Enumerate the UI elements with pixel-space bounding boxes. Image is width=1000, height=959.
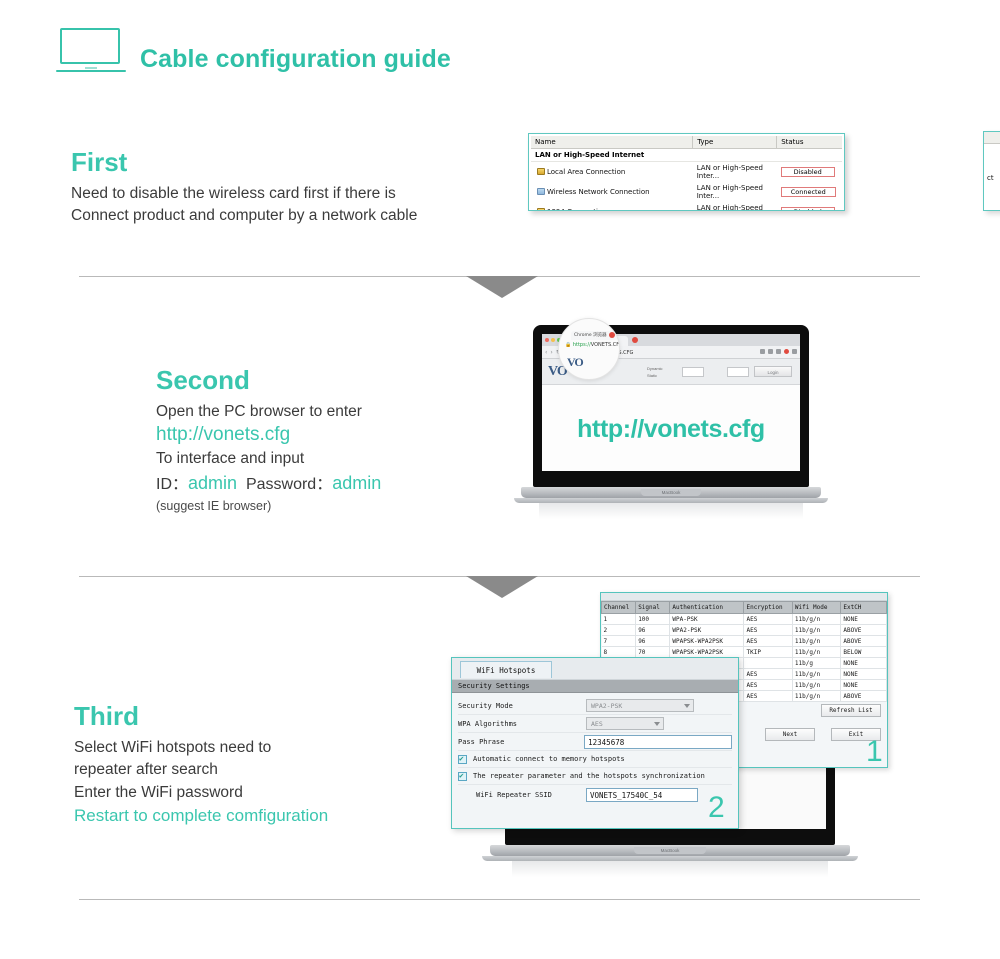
password-label: Password：	[246, 476, 332, 493]
cell-signal: 100	[636, 614, 670, 625]
laptop-hinge: MacBook	[490, 845, 850, 856]
notification-icon[interactable]	[784, 349, 789, 354]
chevron-down-icon	[654, 722, 660, 726]
step-first-line-1: Need to disable the wireless card first …	[71, 183, 501, 205]
chevron-down-icon	[684, 704, 690, 708]
step-first-line-2: Connect product and computer by a networ…	[71, 205, 501, 227]
connection-status-cell: Connected	[777, 182, 842, 202]
magnified-tab-close-icon	[609, 332, 615, 338]
cell-mode: 11b/g/n	[792, 636, 840, 647]
login-button[interactable]: Login	[754, 366, 792, 377]
security-settings-title: Security Settings	[452, 680, 738, 693]
cell-channel: 1	[602, 614, 636, 625]
table-header-row: Name Type Status	[531, 136, 842, 149]
sync-checkbox[interactable]	[458, 772, 467, 781]
table-row[interactable]: 2 96 WPA2-PSK AES 11b/g/n ABOVE	[602, 625, 887, 636]
section-arrow-icon	[466, 276, 538, 298]
step-second-body: Open the PC browser to enter http://vone…	[156, 401, 486, 516]
cell-channel: 2	[602, 625, 636, 636]
connection-name: Wireless Network Connection	[547, 188, 650, 196]
connection-type: LAN or High-Speed Inter...	[693, 202, 777, 211]
connection-name: Local Area Connection	[547, 168, 625, 176]
cell-mode: 11b/g/n	[792, 669, 840, 680]
cell-signal: 96	[636, 636, 670, 647]
extension-icon[interactable]	[768, 349, 773, 354]
step-second-line-1: Open the PC browser to enter	[156, 401, 486, 423]
step-marker-one: 1	[866, 735, 883, 769]
cell-enc	[744, 658, 792, 669]
column-header-wifi-mode: Wifi Mode	[792, 602, 840, 614]
auto-connect-label: Automatic connect to memory hotspots	[473, 755, 625, 763]
column-header-name: Name	[531, 136, 693, 149]
pass-phrase-row: Pass Phrase 12345678	[458, 733, 732, 751]
security-settings-body: Security Mode WPA2-PSK WPA Algorithms AE…	[452, 693, 738, 805]
step-third-heading: Third	[74, 702, 474, 731]
cell-enc: AES	[744, 614, 792, 625]
forward-arrow-icon[interactable]: ›	[550, 349, 552, 356]
laptop-icon-base	[56, 70, 126, 73]
cell-enc: AES	[744, 680, 792, 691]
cell-extch: NONE	[841, 614, 887, 625]
cell-extch: ABOVE	[841, 625, 887, 636]
hotspots-title-strip	[601, 593, 887, 601]
step-third-line-3: Enter the WiFi password	[74, 782, 474, 804]
laptop-brand-label: MacBook	[634, 847, 706, 854]
tab-close-icon[interactable]	[632, 337, 638, 343]
column-header-signal: Signal	[636, 602, 670, 614]
back-arrow-icon[interactable]: ‹	[545, 349, 547, 356]
network-connections-inner: Name Type Status LAN or High-Speed Inter…	[529, 134, 844, 210]
step-second: Second Open the PC browser to enter http…	[156, 366, 486, 515]
vonets-url-text: http://vonets.cfg	[156, 423, 486, 448]
table-row[interactable]: Wireless Network Connection LAN or High-…	[531, 182, 842, 202]
cell-extch: NONE	[841, 658, 887, 669]
step-third-line-1: Select WiFi hotspots need to	[74, 737, 474, 759]
column-header-channel: Channel	[602, 602, 636, 614]
big-url-overlay: http://vonets.cfg	[542, 415, 800, 444]
column-header-extch: ExtCH	[841, 602, 887, 614]
mode-radio-group[interactable]: Dynamic Static	[647, 365, 663, 379]
close-dot-icon[interactable]	[545, 338, 549, 342]
browser-suggestion-note: (suggest IE browser)	[156, 497, 486, 515]
ssid-label: WiFi Repeater SSID	[476, 791, 586, 799]
status-badge: Connected	[781, 187, 836, 197]
laptop-reflection	[512, 861, 829, 877]
wpa-algorithms-row: WPA Algorithms AES	[458, 715, 732, 733]
cell-mode: 11b/g/n	[792, 614, 840, 625]
cell-signal: 96	[636, 625, 670, 636]
lan-adapter-icon	[537, 208, 545, 211]
security-mode-label: Security Mode	[458, 702, 586, 710]
connection-status-cell: Disabled	[777, 162, 842, 183]
partial-panel-header	[984, 132, 1000, 144]
cell-channel: 7	[602, 636, 636, 647]
radio-dynamic[interactable]: Dynamic	[647, 365, 663, 372]
security-mode-row: Security Mode WPA2-PSK	[458, 697, 732, 715]
refresh-list-button[interactable]: Refresh List	[821, 704, 881, 717]
laptop-brand-label: MacBook	[641, 489, 701, 496]
step-second-heading: Second	[156, 366, 486, 395]
step-first: First Need to disable the wireless card …	[71, 148, 501, 228]
cell-extch: NONE	[841, 680, 887, 691]
security-mode-value: WPA2-PSK	[591, 702, 622, 710]
laptop-icon	[56, 28, 126, 74]
network-connections-panel: Name Type Status LAN or High-Speed Inter…	[528, 133, 845, 211]
cell-mode: 11b/g/n	[792, 625, 840, 636]
connection-name-cell: Local Area Connection	[531, 162, 693, 183]
step-first-body: Need to disable the wireless card first …	[71, 183, 501, 228]
cell-enc: TKIP	[744, 647, 792, 658]
browser-toolbar-icons	[760, 349, 797, 354]
group-label: LAN or High-Speed Internet	[531, 149, 842, 162]
sync-checkbox-row[interactable]: The repeater parameter and the hotspots …	[458, 768, 732, 785]
menu-icon[interactable]	[792, 349, 797, 354]
laptop-hinge: MacBook	[521, 487, 822, 498]
settings-icon[interactable]	[776, 349, 781, 354]
status-badge: Disabled	[781, 167, 835, 177]
magnified-vonets-logo: VO	[567, 355, 583, 370]
cell-enc: AES	[744, 691, 792, 702]
tab-wifi-hotspots[interactable]: WiFi Hotspots	[460, 661, 552, 678]
cell-extch: NONE	[841, 669, 887, 680]
pass-phrase-input[interactable]: 12345678	[584, 735, 732, 749]
cell-mode: 11b/g/n	[792, 680, 840, 691]
password-field[interactable]	[727, 367, 749, 377]
cell-channel: 8	[602, 647, 636, 658]
cell-mode: 11b/g/n	[792, 691, 840, 702]
network-connections-panel-partial: ct	[983, 131, 1000, 211]
page-title: Cable configuration guide	[140, 47, 451, 74]
table-row[interactable]: 8 70 WPAPSK-WPA2PSK TKIP 11b/g/n BELOW	[602, 647, 887, 658]
column-header-type: Type	[693, 136, 777, 149]
cell-auth: WPA2-PSK	[670, 625, 744, 636]
cell-auth: WPAPSK-WPA2PSK	[670, 636, 744, 647]
column-header-authentication: Authentication	[670, 602, 744, 614]
security-tab-row: WiFi Hotspots	[452, 658, 738, 680]
magnified-url-scheme: https://	[573, 342, 591, 348]
step-marker-two: 2	[708, 791, 725, 825]
section-arrow-icon	[466, 576, 538, 598]
magnified-address-text: 🔒 https://VONETS.CFG	[565, 342, 620, 348]
security-settings-window: WiFi Hotspots Security Settings Security…	[451, 657, 739, 829]
security-mode-select[interactable]: WPA2-PSK	[586, 699, 694, 712]
magnifier-overlay: Chrome 浏览器 🔒 https://VONETS.CFG VO	[558, 318, 620, 380]
guide-page: Cable configuration guide First Need to …	[0, 0, 1000, 959]
next-button[interactable]: Next	[765, 728, 815, 741]
bottom-divider	[79, 899, 920, 900]
ssid-row: WiFi Repeater SSID VONETS_17540C_54	[458, 785, 732, 805]
magnified-url-host: VONETS.CFG	[591, 342, 620, 348]
cell-mode: 11b/g/n	[792, 647, 840, 658]
table-row[interactable]: 1394 Connection LAN or High-Speed Inter.…	[531, 202, 842, 211]
wpa-algorithms-label: WPA Algorithms	[458, 720, 586, 728]
column-header-encryption: Encryption	[744, 602, 792, 614]
step-first-heading: First	[71, 148, 501, 177]
connection-status-cell: Disabled	[777, 202, 842, 211]
cell-extch: BELOW	[841, 647, 887, 658]
laptop-icon-notch	[85, 67, 97, 69]
connection-type: LAN or High-Speed Inter...	[693, 182, 777, 202]
cell-mode: 11b/g	[792, 658, 840, 669]
status-badge: Disabled	[781, 207, 835, 211]
step-third-line-2: repeater after search	[74, 759, 474, 781]
auto-connect-checkbox[interactable]	[458, 755, 467, 764]
table-group-row: LAN or High-Speed Internet	[531, 149, 842, 162]
password-value: admin	[332, 473, 381, 493]
connection-name: 1394 Connection	[547, 208, 607, 211]
cell-enc: AES	[744, 625, 792, 636]
cell-enc: AES	[744, 636, 792, 647]
network-connections-table: Name Type Status LAN or High-Speed Inter…	[531, 136, 842, 211]
magnified-lock-icon: 🔒	[565, 342, 571, 348]
cell-auth: WPAPSK-WPA2PSK	[670, 647, 744, 658]
wireless-adapter-icon	[537, 188, 545, 195]
table-header-row: Channel Signal Authentication Encryption…	[602, 602, 887, 614]
cell-signal: 70	[636, 647, 670, 658]
laptop-icon-screen	[60, 28, 120, 64]
credentials-line: ID：admin Password：admin	[156, 470, 486, 497]
connection-type: LAN or High-Speed Inter...	[693, 162, 777, 183]
connection-name-cell: Wireless Network Connection	[531, 182, 693, 202]
pass-phrase-label: Pass Phrase	[458, 738, 584, 746]
ssid-input[interactable]: VONETS_17540C_54	[586, 788, 698, 802]
step-third-body: Select WiFi hotspots need to repeater af…	[74, 737, 474, 829]
restart-note: Restart to complete comfiguration	[74, 804, 474, 829]
page-header: Cable configuration guide	[56, 28, 451, 74]
minimize-dot-icon[interactable]	[551, 338, 555, 342]
laptop-reflection	[539, 503, 804, 519]
id-label: ID：	[156, 476, 188, 493]
star-icon[interactable]	[760, 349, 765, 354]
table-row[interactable]: Local Area Connection LAN or High-Speed …	[531, 162, 842, 183]
step-second-line-2: To interface and input	[156, 448, 486, 470]
partial-panel-text: ct	[984, 144, 1000, 182]
connection-name-cell: 1394 Connection	[531, 202, 693, 211]
cell-enc: AES	[744, 669, 792, 680]
radio-static[interactable]: Static	[647, 372, 663, 379]
table-row[interactable]: 1 100 WPA-PSK AES 11b/g/n NONE	[602, 614, 887, 625]
cell-auth: WPA-PSK	[670, 614, 744, 625]
auto-connect-checkbox-row[interactable]: Automatic connect to memory hotspots	[458, 751, 732, 768]
cell-extch: ABOVE	[841, 636, 887, 647]
wpa-algorithms-select[interactable]: AES	[586, 717, 664, 730]
username-field[interactable]	[682, 367, 704, 377]
id-value: admin	[188, 473, 237, 493]
column-header-status: Status	[777, 136, 842, 149]
browser-content: http://vonets.cfg	[542, 385, 800, 471]
sync-label: The repeater parameter and the hotspots …	[473, 772, 705, 780]
wpa-algorithms-value: AES	[591, 720, 603, 728]
cell-extch: ABOVE	[841, 691, 887, 702]
lan-adapter-icon	[537, 168, 545, 175]
step-third: Third Select WiFi hotspots need to repea…	[74, 702, 474, 829]
table-row[interactable]: 7 96 WPAPSK-WPA2PSK AES 11b/g/n ABOVE	[602, 636, 887, 647]
